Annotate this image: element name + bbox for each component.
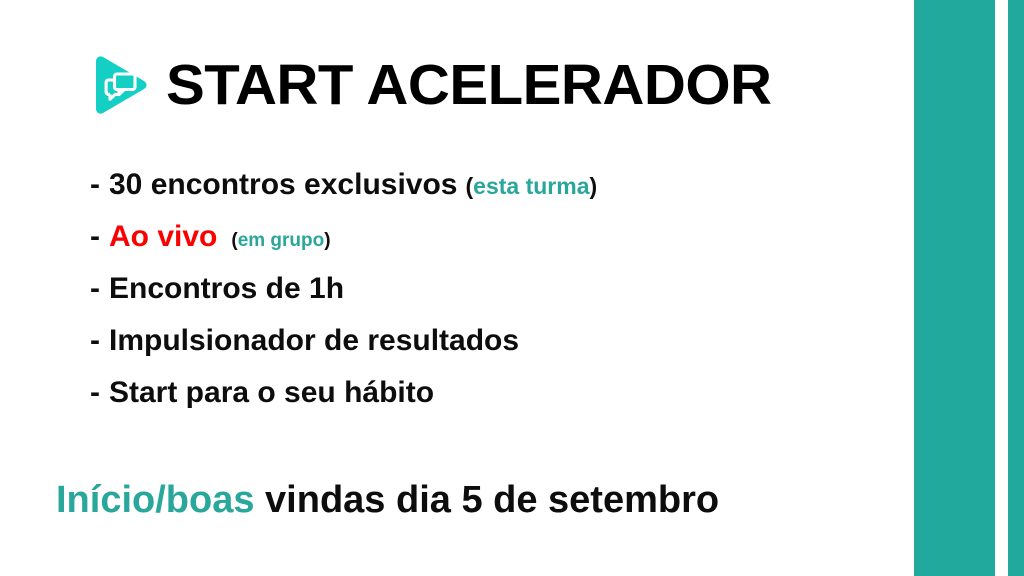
bullet-text: Ao vivo bbox=[109, 222, 217, 252]
paren-text: em grupo bbox=[238, 230, 325, 251]
decor-bar-narrow bbox=[1008, 0, 1024, 576]
paren-text: esta turma bbox=[473, 173, 589, 199]
list-item: - Ao vivo (em grupo) bbox=[90, 222, 890, 274]
footer-highlight: Início/boas bbox=[56, 479, 254, 521]
paren-close: ) bbox=[324, 230, 330, 251]
decor-bar-wide bbox=[914, 0, 995, 576]
bullet-dash: - bbox=[90, 170, 100, 200]
list-item: - Encontros de 1h bbox=[90, 274, 890, 326]
list-item: - 30 encontros exclusivos (esta turma) bbox=[90, 170, 890, 222]
play-chat-bubble-icon bbox=[86, 52, 152, 118]
bullet-note: (em grupo) bbox=[231, 231, 330, 250]
list-item: - Impulsionador de resultados bbox=[90, 326, 890, 378]
title-row: START ACELERADOR bbox=[86, 52, 760, 118]
page-title: START ACELERADOR bbox=[166, 57, 772, 114]
bullet-dash: - bbox=[90, 378, 100, 408]
bullet-text: Start para o seu hábito bbox=[109, 378, 434, 408]
paren-close: ) bbox=[590, 173, 598, 199]
bullet-text: Impulsionador de resultados bbox=[109, 326, 519, 356]
bullet-text: 30 encontros exclusivos bbox=[109, 170, 458, 200]
footer-start-date: Início/boas vindas dia 5 de setembro bbox=[56, 481, 719, 519]
bullet-note: (esta turma) bbox=[466, 175, 598, 198]
bullet-list: - 30 encontros exclusivos (esta turma) -… bbox=[90, 170, 890, 430]
footer-rest: vindas dia 5 de setembro bbox=[254, 479, 719, 521]
list-item: - Start para o seu hábito bbox=[90, 378, 890, 430]
bullet-dash: - bbox=[90, 274, 100, 304]
bullet-dash: - bbox=[90, 326, 100, 356]
bullet-dash: - bbox=[90, 222, 100, 252]
bullet-text: Encontros de 1h bbox=[109, 274, 344, 304]
slide-canvas: START ACELERADOR - 30 encontros exclusiv… bbox=[0, 0, 1024, 576]
